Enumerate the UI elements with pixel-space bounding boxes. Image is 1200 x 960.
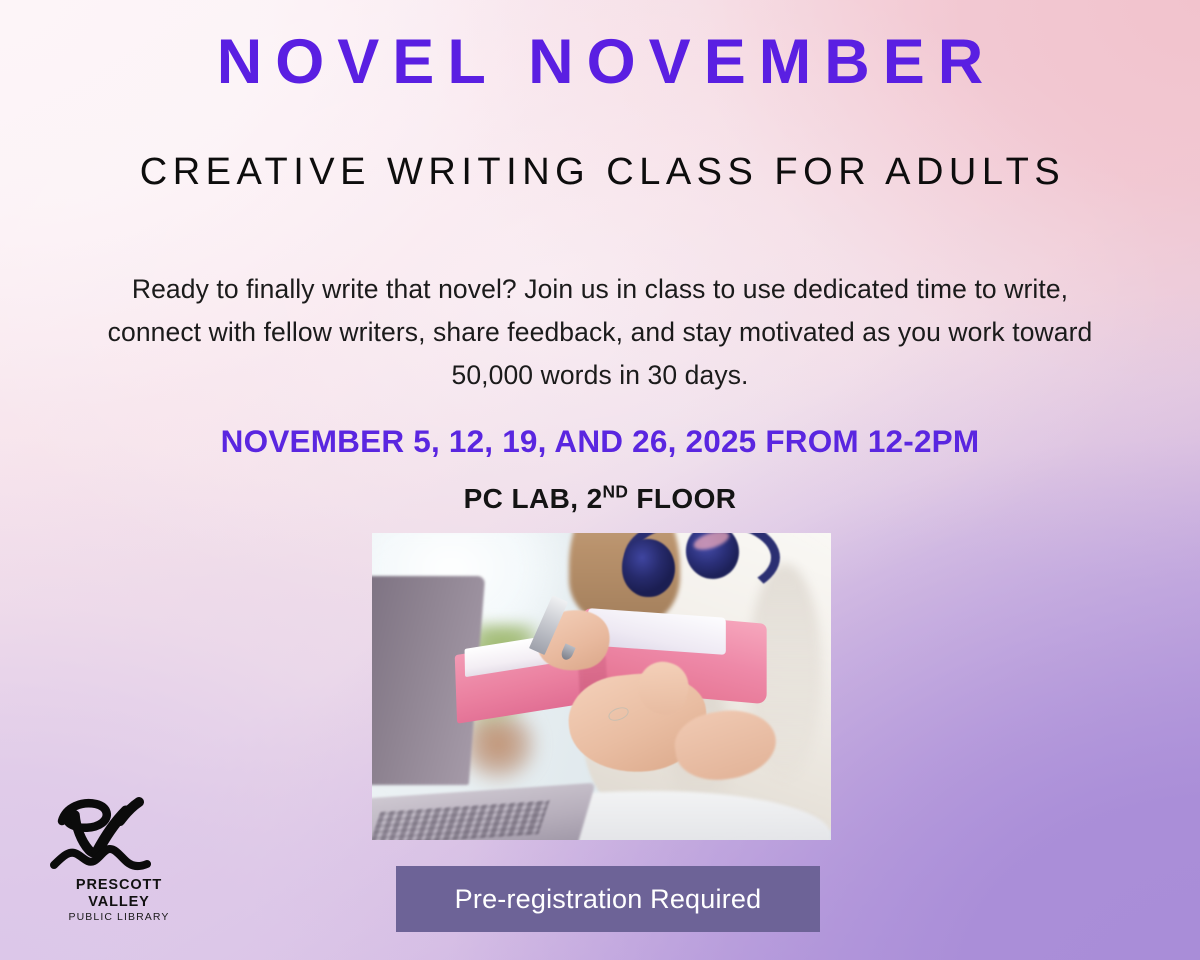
pv-brushstroke-logo-icon <box>48 793 190 877</box>
pre-registration-banner[interactable]: Pre-registration Required <box>396 866 820 932</box>
logo-subtitle: PUBLIC LIBRARY <box>48 911 190 925</box>
logo-name: PRESCOTT VALLEY <box>48 877 190 910</box>
page-title: NOVEL NOVEMBER <box>0 28 1200 96</box>
event-location-line: PC LAB, 2ND FLOOR <box>0 483 1200 515</box>
event-photo <box>372 533 831 840</box>
flyer-canvas: NOVEL NOVEMBER CREATIVE WRITING CLASS FO… <box>0 0 1200 960</box>
subtitle: CREATIVE WRITING CLASS FOR ADULTS <box>120 148 1080 197</box>
pre-registration-label: Pre-registration Required <box>455 884 762 915</box>
flyer-content: NOVEL NOVEMBER CREATIVE WRITING CLASS FO… <box>0 0 1200 960</box>
location-suffix: FLOOR <box>628 483 736 514</box>
photo-vignette <box>372 533 831 840</box>
library-logo: PRESCOTT VALLEY PUBLIC LIBRARY <box>48 793 190 917</box>
location-prefix: PC LAB, 2 <box>464 483 603 514</box>
logo-text-block: PRESCOTT VALLEY PUBLIC LIBRARY <box>48 877 190 925</box>
location-ordinal: ND <box>603 482 629 502</box>
description-paragraph: Ready to finally write that novel? Join … <box>96 268 1104 397</box>
event-date-line: NOVEMBER 5, 12, 19, AND 26, 2025 FROM 12… <box>0 423 1200 460</box>
